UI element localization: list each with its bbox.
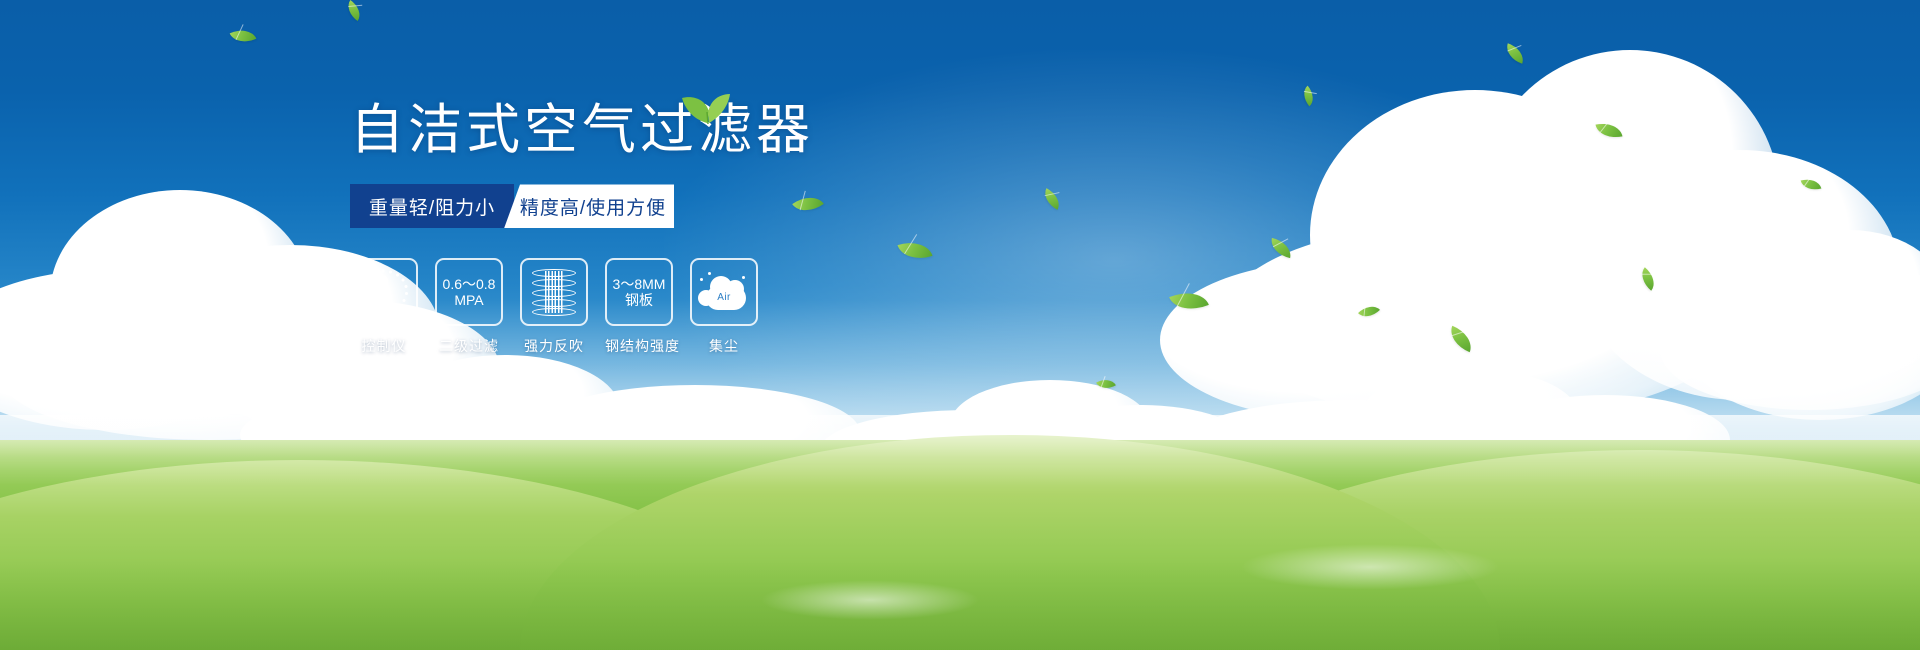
page-title: 自洁式空气过滤器 bbox=[350, 100, 910, 160]
banner-content: 自洁式空气过滤器 重量轻/阻力小 精度高/使用方便 bbox=[350, 100, 910, 356]
dust-spark-1 bbox=[700, 278, 703, 281]
leaf-1 bbox=[230, 24, 257, 48]
title-leaf-decoration bbox=[680, 90, 734, 124]
steel-plate-text-icon: 3～8MM 钢板 bbox=[613, 276, 666, 309]
feature-tabs: 重量轻/阻力小 精度高/使用方便 bbox=[350, 184, 910, 228]
tab-precision-ease[interactable]: 精度高/使用方便 bbox=[504, 184, 674, 228]
leaf-9 bbox=[1169, 284, 1209, 317]
filter-cartridge-icon bbox=[532, 268, 576, 316]
cloud-right bbox=[1160, 30, 1920, 430]
control-dial-icon: NO OFF bbox=[359, 267, 409, 317]
cartridge-ring-5 bbox=[532, 308, 576, 316]
feature-label-two-stage-filter: 二级过滤 bbox=[435, 336, 503, 356]
leaf-2 bbox=[343, 0, 365, 21]
feature-item-two-stage-filter[interactable]: 0.6～0.8 MPA 二级过滤 bbox=[435, 258, 503, 356]
grass-field bbox=[0, 440, 1920, 650]
feature-item-backblow[interactable]: 强力反吹 bbox=[520, 258, 588, 356]
pressure-text-icon: 0.6～0.8 MPA bbox=[443, 276, 496, 309]
leaf-3 bbox=[1503, 43, 1527, 63]
feature-item-controller[interactable]: NO OFF 控制仪 bbox=[350, 258, 418, 356]
dial-pointer bbox=[381, 276, 388, 310]
feature-icon-row: NO OFF 控制仪 0.6～0.8 MPA 二级过滤 bbox=[350, 258, 910, 356]
leaf-15 bbox=[1801, 176, 1822, 193]
feature-box-controller: NO OFF bbox=[350, 258, 418, 326]
cartridge-ring-1 bbox=[532, 269, 576, 277]
dust-spark-2 bbox=[708, 272, 711, 275]
leaf-5 bbox=[1298, 86, 1318, 107]
leaf-8 bbox=[1040, 188, 1064, 210]
leaf-12 bbox=[1446, 326, 1477, 352]
feature-label-dust-collection: 集尘 bbox=[690, 336, 758, 356]
feature-label-steel-strength: 钢结构强度 bbox=[605, 336, 673, 356]
air-dust-cloud-icon: Air bbox=[698, 272, 750, 312]
feature-box-dust: Air bbox=[690, 258, 758, 326]
dial-label-off: OFF bbox=[401, 309, 414, 315]
leaf-10 bbox=[1269, 238, 1294, 258]
feature-box-pressure: 0.6～0.8 MPA bbox=[435, 258, 503, 326]
feature-label-controller: 控制仪 bbox=[350, 336, 418, 356]
grass-highlight-1 bbox=[760, 580, 980, 620]
cartridge-ring-2 bbox=[532, 279, 576, 287]
feature-box-backblow bbox=[520, 258, 588, 326]
dust-spark-3 bbox=[742, 276, 745, 279]
feature-label-backblow: 强力反吹 bbox=[520, 336, 588, 356]
feature-box-steel: 3～8MM 钢板 bbox=[605, 258, 673, 326]
cloud-far-right bbox=[1660, 200, 1920, 420]
hero-banner: 自洁式空气过滤器 重量轻/阻力小 精度高/使用方便 bbox=[0, 0, 1920, 650]
leaf-13 bbox=[1096, 375, 1116, 393]
cartridge-ring-3 bbox=[532, 289, 576, 297]
dial-label-no: NO bbox=[353, 294, 363, 300]
air-label: Air bbox=[698, 292, 750, 303]
leaf-4 bbox=[1595, 120, 1622, 142]
feature-item-dust-collection[interactable]: Air 集尘 bbox=[690, 258, 758, 356]
leaf-14 bbox=[1636, 267, 1660, 291]
feature-item-steel-strength[interactable]: 3～8MM 钢板 钢结构强度 bbox=[605, 258, 673, 356]
cartridge-ring-4 bbox=[532, 299, 576, 307]
grass-highlight-2 bbox=[1240, 544, 1500, 590]
grass-haze bbox=[0, 415, 1920, 485]
leaf-11 bbox=[1358, 301, 1380, 323]
tab-weight-resistance[interactable]: 重量轻/阻力小 bbox=[350, 184, 514, 228]
